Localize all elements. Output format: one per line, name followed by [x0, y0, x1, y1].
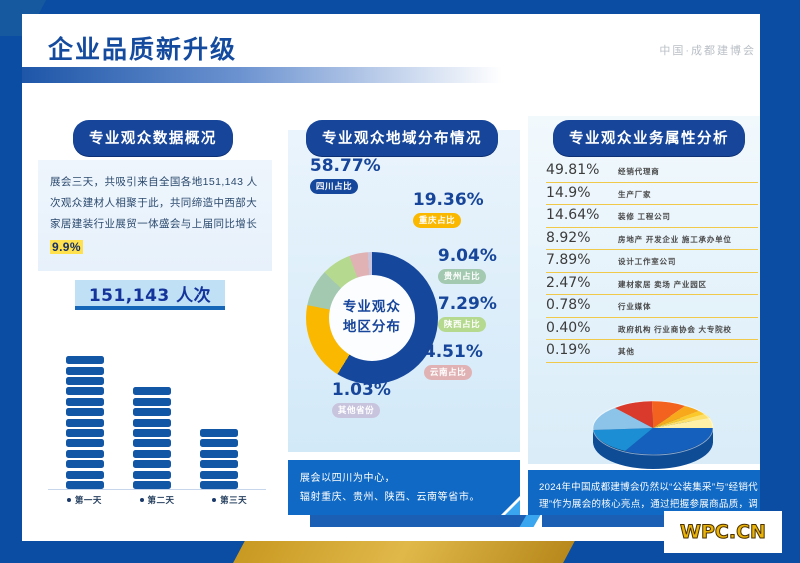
- legend-item-day-3: 第三天: [193, 494, 266, 506]
- stat-row: 0.40%政府机构 行业商协会 大专院校: [546, 318, 758, 341]
- bar-chart-legend: 第一天 第二天 第三天: [48, 494, 266, 506]
- donut-value-sichuan: 58.77%: [310, 156, 381, 176]
- donut-label-sichuan: 58.77% 四川占比: [310, 156, 381, 194]
- bar-segment: [133, 481, 171, 489]
- donut-center-label: 专业观众 地区分布: [306, 252, 438, 384]
- stat-category-label: 生产厂家: [618, 189, 651, 200]
- bar-segment: [200, 429, 238, 437]
- stat-percentage: 2.47%: [546, 275, 618, 291]
- poster-canvas: 企业品质新升级 中国·成都建博会 专业观众数据概况 展会三天，共吸引来自全国各地…: [0, 0, 800, 563]
- bar-day-3: [200, 429, 238, 489]
- stat-row: 14.64%装修 工程公司: [546, 205, 758, 228]
- stat-category-label: 装修 工程公司: [618, 211, 671, 222]
- bar-segment: [133, 398, 171, 406]
- bar-segment: [133, 429, 171, 437]
- stat-percentage: 14.64%: [546, 207, 618, 223]
- bar-segment: [133, 450, 171, 458]
- bar-segment: [200, 460, 238, 468]
- panel2-caption: 展会以四川为中心， 辐射重庆、贵州、陕西、云南等省市。: [288, 460, 520, 518]
- bar-segment: [66, 398, 104, 406]
- title-underline-decoration: [22, 67, 502, 83]
- panels-container: 专业观众数据概况 展会三天，共吸引来自全国各地151,143 人次观众建材人相聚…: [22, 92, 778, 517]
- bullet-icon: [67, 498, 71, 502]
- panel1-heading: 专业观众数据概况: [73, 120, 233, 156]
- watermark-text: WPC.CN: [680, 521, 766, 543]
- donut-tag-guizhou: 贵州占比: [438, 269, 486, 284]
- stat-row: 2.47%建材家居 卖场 产业园区: [546, 273, 758, 296]
- bar-segment: [66, 408, 104, 416]
- panel2-caption-line-2: 辐射重庆、贵州、陕西、云南等省市。: [300, 489, 508, 508]
- bar-segment: [66, 471, 104, 479]
- bar-segment: [133, 387, 171, 395]
- bar-segment: [66, 377, 104, 385]
- donut-value-chongqing: 19.36%: [413, 190, 484, 210]
- business-pie-chart: [568, 390, 738, 476]
- donut-tag-chongqing: 重庆占比: [413, 213, 461, 228]
- legend-label-day-3: 第三天: [220, 494, 247, 506]
- panel1-paragraph-text: 展会三天，共吸引来自全国各地151,143 人次观众建材人相聚于此，共同缔造中西…: [50, 176, 258, 230]
- stat-category-label: 政府机构 行业商协会 大专院校: [618, 324, 732, 335]
- stat-category-label: 经销代理商: [618, 166, 660, 177]
- donut-tag-sichuan: 四川占比: [310, 179, 358, 194]
- bar-segment: [66, 429, 104, 437]
- donut-tag-shaanxi: 陕西占比: [438, 317, 486, 332]
- stat-row: 49.81%经销代理商: [546, 160, 758, 183]
- stat-category-label: 行业媒体: [618, 301, 651, 312]
- title-bar: 企业品质新升级 中国·成都建博会: [22, 14, 778, 92]
- panel2-heading: 专业观众地域分布情况: [306, 120, 498, 156]
- donut-center-line-1: 专业观众: [343, 298, 401, 318]
- donut-label-shaanxi: 7.29% 陕西占比: [438, 294, 497, 332]
- bar-segment: [200, 450, 238, 458]
- stat-percentage: 49.81%: [546, 162, 618, 178]
- pie-chart-svg: [568, 390, 738, 476]
- stat-row: 0.19%其他: [546, 340, 758, 363]
- legend-item-day-2: 第二天: [121, 494, 194, 506]
- donut-label-yunnan: 4.51% 云南占比: [424, 342, 483, 380]
- donut-tag-yunnan: 云南占比: [424, 365, 472, 380]
- footer-accent-bar-1: [310, 515, 530, 527]
- daily-visitors-bar-chart: [48, 340, 266, 490]
- bar-segment: [66, 387, 104, 395]
- bar-day-2: [133, 387, 171, 489]
- bar-segment: [133, 439, 171, 447]
- business-attribute-list: 49.81%经销代理商14.9%生产厂家14.64%装修 工程公司8.92%房地…: [546, 160, 758, 363]
- footer-accent-arrow-1: [520, 515, 541, 527]
- bar-segment: [66, 460, 104, 468]
- donut-value-yunnan: 4.51%: [424, 342, 483, 362]
- stat-category-label: 房地产 开发企业 施工承办单位: [618, 234, 732, 245]
- bar-segment: [66, 419, 104, 427]
- donut-value-guizhou: 9.04%: [438, 246, 497, 266]
- region-donut-chart: 专业观众 地区分布: [306, 252, 438, 384]
- bar-segment: [133, 471, 171, 479]
- bar-segment: [66, 356, 104, 364]
- bullet-icon: [212, 498, 216, 502]
- bar-segment: [66, 481, 104, 489]
- donut-center-line-2: 地区分布: [343, 318, 401, 338]
- stat-row: 7.89%设计工作室公司: [546, 250, 758, 273]
- donut-label-guizhou: 9.04% 贵州占比: [438, 246, 497, 284]
- stat-percentage: 7.89%: [546, 252, 618, 268]
- legend-item-day-1: 第一天: [48, 494, 121, 506]
- legend-label-day-2: 第二天: [148, 494, 175, 506]
- bar-segment: [133, 419, 171, 427]
- watermark: WPC.CN: [664, 511, 782, 553]
- right-edge-decoration: [760, 0, 800, 563]
- stat-category-label: 设计工作室公司: [618, 256, 676, 267]
- donut-label-other: 1.03% 其他省份: [332, 380, 391, 418]
- stat-percentage: 0.19%: [546, 342, 618, 358]
- panel-business-attributes: 专业观众业务属性分析 49.81%经销代理商14.9%生产厂家14.64%装修 …: [528, 102, 770, 513]
- total-visitors-badge: 151,143 人次: [75, 280, 225, 310]
- panel-audience-overview: 专业观众数据概况 展会三天，共吸引来自全国各地151,143 人次观众建材人相聚…: [30, 102, 276, 513]
- stat-row: 8.92%房地产 开发企业 施工承办单位: [546, 228, 758, 251]
- panel2-caption-line-1: 展会以四川为中心，: [300, 470, 508, 489]
- panel1-paragraph: 展会三天，共吸引来自全国各地151,143 人次观众建材人相聚于此，共同缔造中西…: [38, 160, 272, 271]
- bar-segment: [66, 450, 104, 458]
- bar-day-1: [66, 356, 104, 489]
- stat-category-label: 建材家居 卖场 产业园区: [618, 279, 707, 290]
- stat-percentage: 0.40%: [546, 320, 618, 336]
- bar-segment: [200, 471, 238, 479]
- bar-segment: [200, 439, 238, 447]
- brand-label: 中国·成都建博会: [659, 42, 756, 58]
- panel-region-distribution: 专业观众地域分布情况 专业观众 地区分布 58.77% 四川占比 19.36% …: [288, 102, 516, 513]
- bar-segment: [133, 408, 171, 416]
- bar-segment: [133, 460, 171, 468]
- stat-percentage: 14.9%: [546, 185, 618, 201]
- bar-segment: [200, 481, 238, 489]
- stat-row: 14.9%生产厂家: [546, 183, 758, 206]
- donut-label-chongqing: 19.36% 重庆占比: [413, 190, 484, 228]
- donut-value-shaanxi: 7.29%: [438, 294, 497, 314]
- stat-row: 0.78%行业媒体: [546, 295, 758, 318]
- panel3-heading: 专业观众业务属性分析: [553, 120, 745, 156]
- stat-percentage: 0.78%: [546, 297, 618, 313]
- bullet-icon: [140, 498, 144, 502]
- page-title: 企业品质新升级: [48, 30, 237, 66]
- stat-category-label: 其他: [618, 346, 635, 357]
- donut-tag-other: 其他省份: [332, 403, 380, 418]
- panel1-growth-highlight: 9.9%: [50, 240, 83, 254]
- donut-value-other: 1.03%: [332, 380, 391, 400]
- legend-label-day-1: 第一天: [75, 494, 102, 506]
- bar-segment: [66, 367, 104, 375]
- bar-segment: [66, 439, 104, 447]
- stat-percentage: 8.92%: [546, 230, 618, 246]
